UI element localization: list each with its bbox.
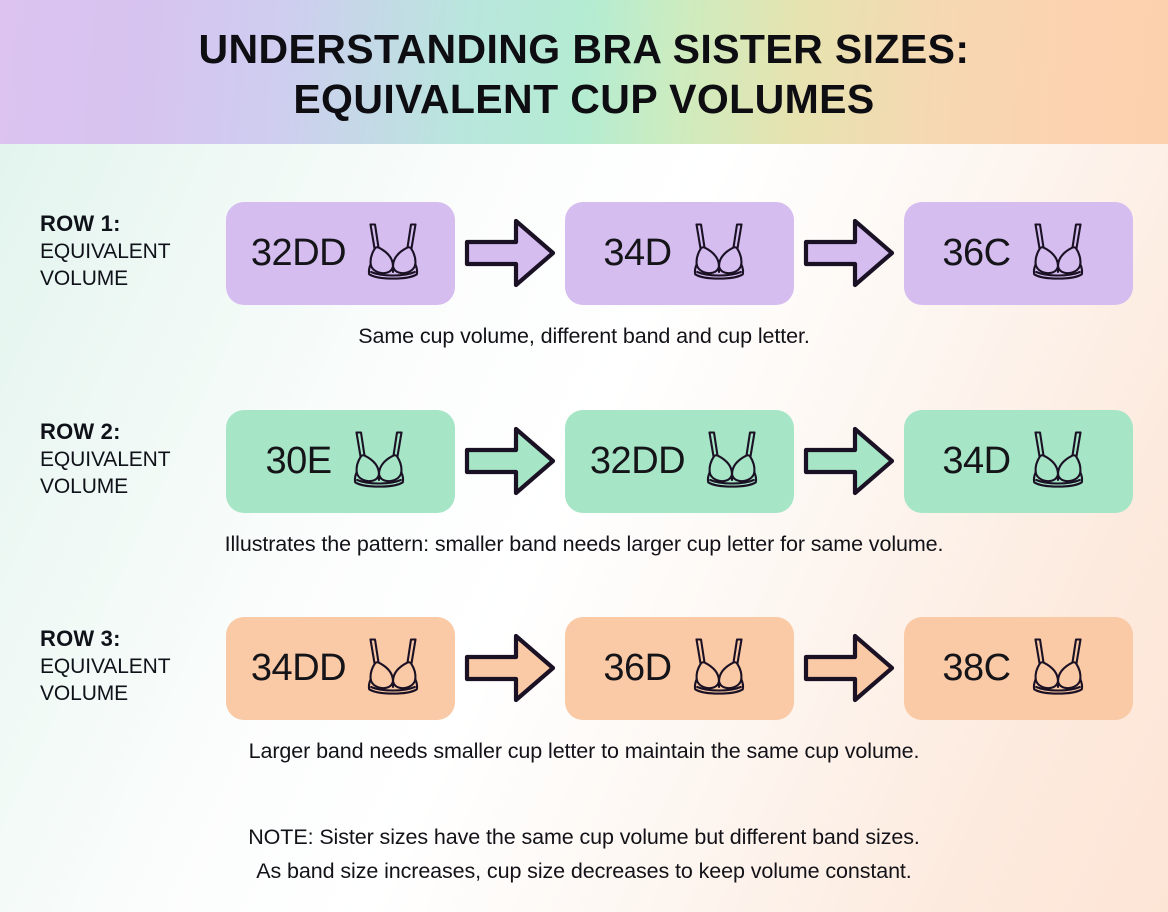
size-pill[interactable]: 32DD [226, 202, 455, 305]
row-caption-2: Illustrates the pattern: smaller band ne… [0, 532, 1168, 557]
size-pill[interactable]: 36D [565, 617, 794, 720]
row-label-2: ROW 2: EQUIVALENT VOLUME [40, 418, 220, 500]
row-label-subtitle-line-1: EQUIVALENT [40, 653, 220, 680]
size-pill-label: 36D [603, 647, 671, 690]
size-pill-label: 32DD [590, 440, 685, 483]
bra-icon [1021, 220, 1095, 287]
row-label-1: ROW 1: EQUIVALENT VOLUME [40, 210, 220, 292]
size-pill[interactable]: 30E [226, 410, 455, 513]
bra-icon [695, 428, 769, 495]
bra-icon [342, 428, 416, 495]
size-chain-1: 32DD 34D [226, 196, 1133, 310]
row-label-subtitle-line-2: VOLUME [40, 473, 220, 500]
size-pill[interactable]: 34D [904, 410, 1133, 513]
size-chain-3: 34DD 36D [226, 611, 1133, 725]
arrow-right-icon [794, 410, 904, 513]
footer-note-line-2: As band size increases, cup size decreas… [0, 854, 1168, 888]
size-pill-label: 34D [942, 440, 1010, 483]
row-label-subtitle: EQUIVALENT VOLUME [40, 238, 220, 292]
header-banner: UNDERSTANDING BRA SISTER SIZES: EQUIVALE… [0, 0, 1168, 144]
size-pill[interactable]: 38C [904, 617, 1133, 720]
arrow-right-icon [794, 617, 904, 720]
size-pill-label: 34D [603, 232, 671, 275]
size-pill[interactable]: 36C [904, 202, 1133, 305]
size-pill-label: 34DD [251, 647, 346, 690]
row-block-1: ROW 1: EQUIVALENT VOLUME 32DD [0, 196, 1168, 310]
bra-icon [1021, 428, 1095, 495]
row-label-subtitle-line-2: VOLUME [40, 680, 220, 707]
row-label-subtitle-line-2: VOLUME [40, 265, 220, 292]
size-pill-label: 30E [265, 440, 331, 483]
size-pill[interactable]: 34D [565, 202, 794, 305]
bra-icon [682, 635, 756, 702]
bra-icon [356, 220, 430, 287]
row-strip: ROW 1: EQUIVALENT VOLUME 32DD [0, 196, 1168, 310]
size-pill-label: 32DD [251, 232, 346, 275]
row-label-subtitle: EQUIVALENT VOLUME [40, 446, 220, 500]
bra-icon [356, 635, 430, 702]
footer-note-line-1: NOTE: Sister sizes have the same cup vol… [0, 820, 1168, 854]
row-label-subtitle: EQUIVALENT VOLUME [40, 653, 220, 707]
size-pill-label: 36C [942, 232, 1010, 275]
page-title: UNDERSTANDING BRA SISTER SIZES: EQUIVALE… [199, 20, 970, 124]
arrow-right-icon [455, 410, 565, 513]
row-caption-1: Same cup volume, different band and cup … [0, 324, 1168, 349]
row-block-3: ROW 3: EQUIVALENT VOLUME 34DD [0, 611, 1168, 725]
row-block-2: ROW 2: EQUIVALENT VOLUME 30E [0, 404, 1168, 518]
row-label-title: ROW 1: [40, 210, 220, 238]
arrow-right-icon [455, 202, 565, 305]
row-label-subtitle-line-1: EQUIVALENT [40, 238, 220, 265]
bra-icon [682, 220, 756, 287]
page-title-line-1: UNDERSTANDING BRA SISTER SIZES: [199, 26, 970, 72]
row-strip: ROW 2: EQUIVALENT VOLUME 30E [0, 404, 1168, 518]
size-pill[interactable]: 34DD [226, 617, 455, 720]
arrow-right-icon [794, 202, 904, 305]
infographic-page: UNDERSTANDING BRA SISTER SIZES: EQUIVALE… [0, 0, 1168, 912]
size-chain-2: 30E 32DD [226, 404, 1133, 518]
footer-note: NOTE: Sister sizes have the same cup vol… [0, 820, 1168, 888]
row-label-title: ROW 3: [40, 625, 220, 653]
row-strip: ROW 3: EQUIVALENT VOLUME 34DD [0, 611, 1168, 725]
size-pill[interactable]: 32DD [565, 410, 794, 513]
size-pill-label: 38C [942, 647, 1010, 690]
row-label-subtitle-line-1: EQUIVALENT [40, 446, 220, 473]
page-title-line-2: EQUIVALENT CUP VOLUMES [199, 74, 970, 124]
row-label-3: ROW 3: EQUIVALENT VOLUME [40, 625, 220, 707]
row-label-title: ROW 2: [40, 418, 220, 446]
arrow-right-icon [455, 617, 565, 720]
row-caption-3: Larger band needs smaller cup letter to … [0, 739, 1168, 764]
bra-icon [1021, 635, 1095, 702]
